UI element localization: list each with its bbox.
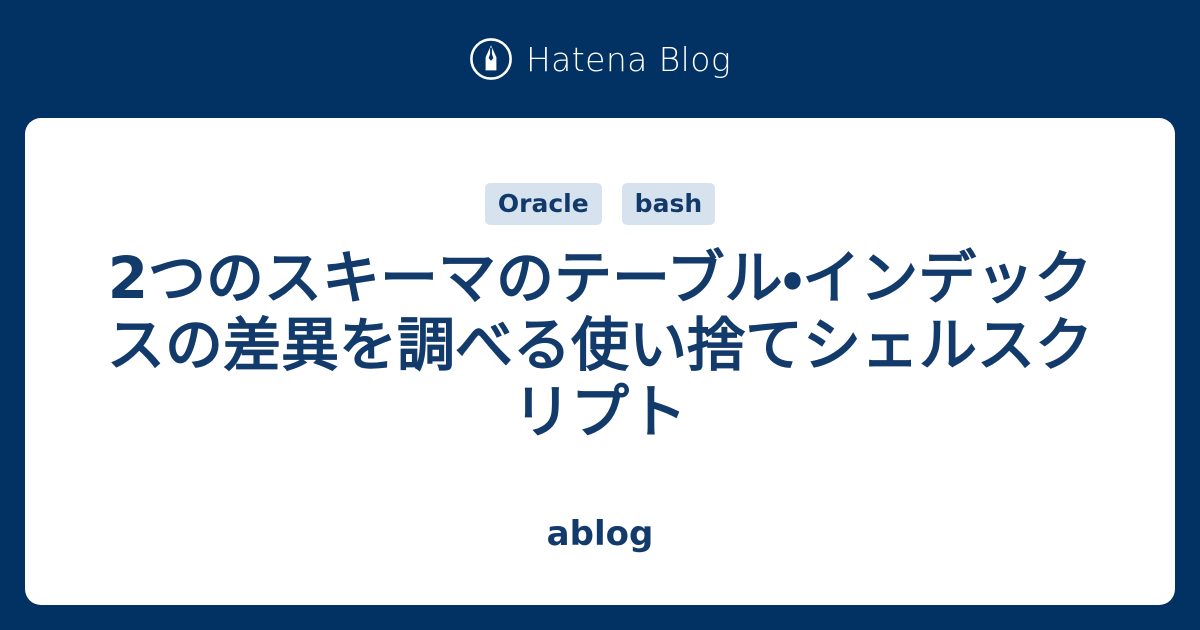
entry-title-line-1: 2つのスキーマのテーブル・ bbox=[108, 244, 803, 312]
tag-list: Oracle bash bbox=[485, 183, 715, 225]
tag-chip-oracle[interactable]: Oracle bbox=[485, 183, 602, 225]
fountain-pen-nib-icon bbox=[469, 37, 513, 81]
entry-card: Oracle bash 2つのスキーマのテーブル・ インデックスの差異を調べる … bbox=[25, 118, 1175, 605]
brand-header: Hatena Blog bbox=[0, 0, 1200, 118]
ogp-card-root: Hatena Blog Oracle bash 2つのスキーマのテーブル・ イン… bbox=[0, 0, 1200, 630]
entry-title: 2つのスキーマのテーブル・ インデックスの差異を調べる 使い捨てシェルスクリプト bbox=[100, 245, 1100, 446]
tag-chip-bash[interactable]: bash bbox=[622, 183, 715, 225]
entry-title-line-3: 使い捨てシェルスクリプト bbox=[513, 311, 1093, 446]
hatena-blog-logo bbox=[469, 37, 513, 81]
blog-name: ablog bbox=[25, 516, 1175, 553]
brand-name: Hatena Blog bbox=[526, 43, 731, 76]
